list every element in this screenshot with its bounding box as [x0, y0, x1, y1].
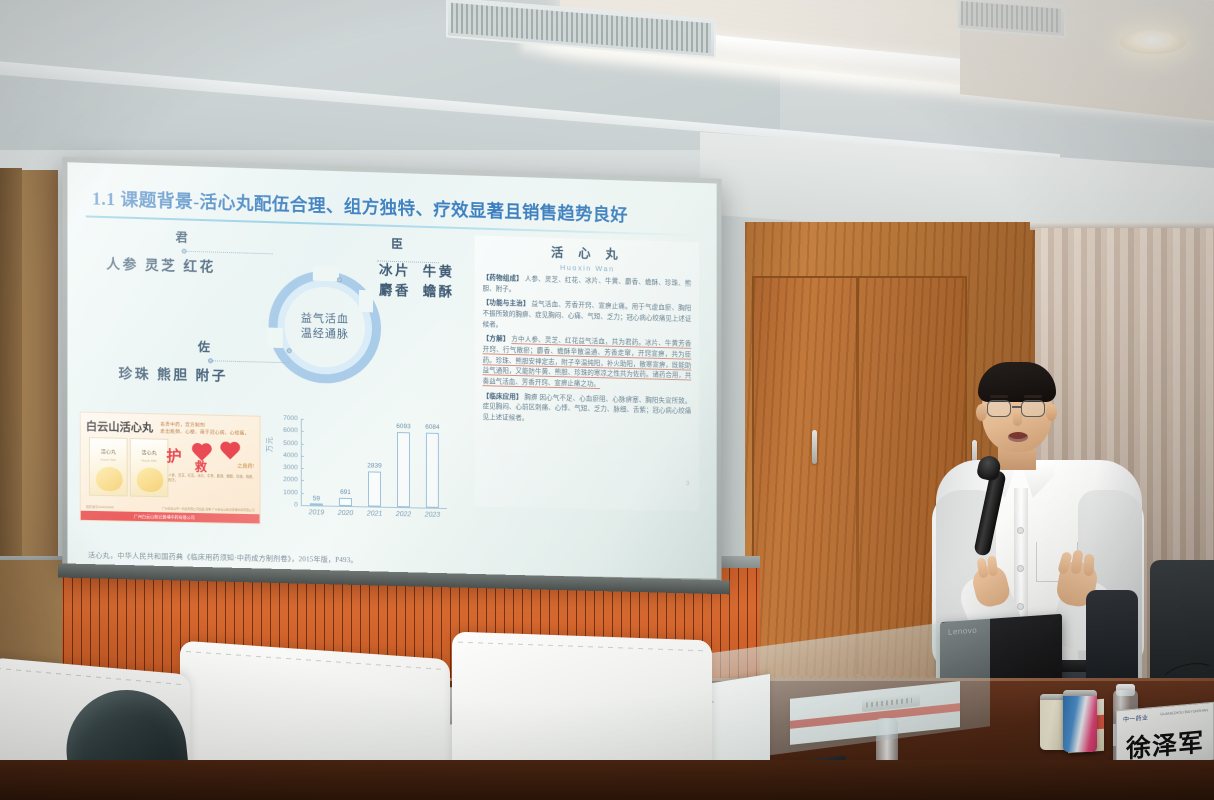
- chart-y-tick-label: 3000: [283, 464, 298, 471]
- ad-fine-print-right: 广州白云山中一药业有限公司出品·监制·广州白云山和记黄埔中药有限公司: [162, 506, 255, 512]
- glasses-bridge: [1012, 406, 1021, 408]
- ad-slogan: 名贵中药，宫方制剂 走出瓶颈、心梗、用于冠心病、心绞痛。: [160, 420, 249, 436]
- product-advertisement: 白云山活心丸 名贵中药，宫方制剂 走出瓶颈、心梗、用于冠心病、心绞痛。 活心丸 …: [80, 412, 261, 525]
- center-line-1: 益气活血: [301, 312, 349, 328]
- ear-right: [1046, 404, 1057, 421]
- door-center-split: [856, 278, 859, 674]
- chart-x-tick-label: 2019: [309, 509, 325, 516]
- nameplate-sub-label: GUANGZHOU BAIYUNSHAN: [1160, 708, 1208, 716]
- section-heading: 【药物组成】: [483, 275, 523, 283]
- ad-heart-text-2: 救: [195, 458, 207, 475]
- finger: [987, 556, 998, 577]
- slide-content: 1.1 课题背景-活心丸配伍合理、组方独特、疗效显著且销售趋势良好 君 人参 灵…: [67, 162, 716, 579]
- shirt-button: [1018, 566, 1023, 571]
- chart-y-axis-label: 万元: [265, 436, 275, 452]
- chart-bar-value: 6084: [425, 424, 439, 431]
- formula-diagram: 君 人参 灵芝 红花 臣 冰片 牛黄 麝香 蟾酥 佐 珍珠 熊胆 附子 益气活血…: [88, 226, 491, 418]
- sales-bar-chart: 万元 01000200030004000500060007000 5920196…: [267, 412, 457, 528]
- chart-y-tick-mark: [301, 419, 304, 420]
- monograph-section: 【功能与主治】 益气活血、芳香开窍、宣痹止痛。用于气虚血瘀、胸阳不振所致的胸痹、…: [483, 299, 692, 337]
- ring-gap: [313, 267, 339, 282]
- ad-heart-graphics: 护 救 之良药!: [166, 441, 257, 473]
- ad-brand-name: 白云山活心丸: [86, 418, 153, 436]
- drug-monograph-card: 活 心 丸 Huoxin Wan 【药物组成】 人参、灵芝、红花、冰片、牛黄、麝…: [475, 235, 699, 511]
- chart-x-tick-label: 2022: [396, 511, 412, 518]
- eyebrow-left: [990, 395, 1008, 398]
- chart-x-tick-label: 2021: [367, 510, 383, 517]
- ad-detail-text: 人参、灵芝、红花、冰片、牛黄、麝香、蟾酥、珍珠、熊胆、附子。: [168, 473, 257, 486]
- product-box: 活心丸 Huoxin Wan: [130, 438, 169, 497]
- chart-y-tick-mark: [301, 480, 304, 481]
- chart-y-tick-mark: [301, 493, 304, 494]
- ad-fine-print-left: 国药准字Z44022048: [86, 505, 114, 510]
- monograph-section: 【药物组成】 人参、灵芝、红花、冰片、牛黄、麝香、蟾酥、珍珠、熊胆、附子。: [483, 274, 692, 301]
- section-body: 方中人参、灵芝、红花益气活血，共为君药。冰片、牛黄芳香开窍、行气散瘀；麝香、蟾酥…: [483, 336, 692, 389]
- glasses-lens-right: [1021, 400, 1045, 417]
- role-label-zuo: 佐: [198, 338, 210, 355]
- chart-x-tick-label: 2020: [338, 510, 354, 517]
- product-box-name: 活心丸: [93, 448, 124, 456]
- section-heading: 【功能与主治】: [483, 300, 530, 308]
- ad-slogan-line-2: 走出瓶颈、心梗、用于冠心病、心绞痛。: [160, 428, 249, 437]
- shirt-button: [1018, 604, 1023, 609]
- ad-heart-text-1: 护: [166, 445, 181, 467]
- product-box: 活心丸 Huoxin Wan: [89, 437, 128, 496]
- chart-y-tick-label: 5000: [283, 439, 298, 446]
- chart-y-tick-mark: [301, 456, 304, 457]
- chart-y-tick-mark: [301, 443, 304, 444]
- chart-y-tick-label: 6000: [283, 427, 298, 434]
- chart-y-tick-label: 4000: [283, 452, 298, 459]
- chart-bar: [426, 433, 439, 508]
- door-handle-icon[interactable]: [812, 430, 817, 464]
- ear-left: [976, 404, 987, 421]
- ad-footer-bar: 广州白云山和记黄埔中药有限公司: [81, 511, 260, 524]
- chart-y-tick-label: 1000: [283, 489, 298, 496]
- chart-y-tick-mark: [301, 505, 304, 506]
- shirt-button: [1018, 528, 1023, 533]
- table-front-edge: [0, 760, 1214, 800]
- slide-footnote: 活心丸，中华人民共和国药典《临床用药须知·中药成方制剂卷》，2015年版，P49…: [88, 550, 358, 565]
- nose: [1013, 412, 1022, 426]
- chart-y-tick-label: 0: [294, 501, 298, 508]
- monograph-section: 【临床应用】 胸痹 因心气不足、心血瘀阻、心脉痹塞、胸阳失宣所致。症见胸闷、心前…: [483, 392, 692, 429]
- monograph-section: 【方解】 方中人参、灵芝、红花益气活血，共为君药。冰片、牛黄芳香开窍、行气散瘀；…: [483, 335, 692, 393]
- conference-room-photo: 1.1 课题背景-活心丸配伍合理、组方独特、疗效显著且销售趋势良好 君 人参 灵…: [0, 0, 1214, 800]
- role-label-chen: 臣: [391, 235, 403, 252]
- herbs-zuo: 珍珠 熊胆 附子: [119, 362, 228, 385]
- chart-y-tick-label: 7000: [283, 415, 298, 422]
- connector-zuo: [212, 360, 289, 363]
- formula-ring-center-text: 益气活血 温经通脉: [287, 294, 363, 360]
- chart-y-tick-label: 2000: [283, 477, 298, 484]
- ad-heart-suffix: 之良药!: [237, 463, 254, 470]
- finger: [1084, 554, 1095, 576]
- product-box-art: [96, 467, 123, 492]
- product-box-pinyin: Huoxin Wan: [93, 457, 124, 462]
- section-heading: 【方解】: [483, 336, 510, 344]
- chart-y-tick-mark: [301, 431, 304, 432]
- product-box-art: [137, 467, 163, 492]
- beverage-can[interactable]: [1063, 690, 1097, 752]
- chart-bar-value: 691: [340, 488, 351, 495]
- role-label-jun: 君: [175, 228, 187, 246]
- projection-screen: 1.1 课题背景-活心丸配伍合理、组方独特、疗效显著且销售趋势良好 君 人参 灵…: [62, 157, 721, 584]
- ad-footer-text: 广州白云山和记黄埔中药有限公司: [134, 513, 195, 520]
- chart-bar: [368, 472, 381, 507]
- chart-bar: [310, 503, 323, 505]
- eyebrow-right: [1024, 395, 1042, 398]
- section-heading: 【临床应用】: [483, 393, 523, 401]
- chart-bar-value: 6093: [396, 423, 410, 430]
- ring-gap: [267, 328, 283, 349]
- connector-dot: [182, 249, 187, 254]
- herbs-chen: 冰片 牛黄 麝香 蟾酥: [379, 260, 455, 301]
- slide-title: 1.1 课题背景-活心丸配伍合理、组方独特、疗效显著且销售趋势良好: [92, 185, 707, 229]
- chart-y-tick-mark: [301, 468, 304, 469]
- mouth: [1008, 432, 1028, 442]
- monograph-page-number: 3: [686, 481, 689, 487]
- chart-bar: [339, 497, 352, 506]
- product-box-pinyin: Huoxin Wan: [134, 458, 165, 463]
- chart-bar: [397, 432, 410, 507]
- ceiling-downlight-icon: [1120, 30, 1186, 54]
- glasses-lens-left: [987, 400, 1011, 417]
- connector-dot: [337, 277, 342, 282]
- herbs-jun: 人参 灵芝 红花: [106, 252, 216, 275]
- chart-bar-value: 59: [313, 495, 320, 502]
- connector-dot: [208, 358, 213, 363]
- projected-slide: 1.1 课题背景-活心丸配伍合理、组方独特、疗效显著且销售趋势良好 君 人参 灵…: [67, 162, 716, 579]
- connector-dot: [287, 348, 292, 353]
- connector-jun: [186, 251, 273, 255]
- nameplate-logo: 中一药业: [1123, 712, 1148, 723]
- chart-bar-value: 2839: [367, 462, 381, 469]
- product-box-name: 活心丸: [134, 449, 165, 457]
- center-line-2: 温经通脉: [301, 326, 349, 342]
- chart-x-tick-label: 2023: [425, 512, 441, 519]
